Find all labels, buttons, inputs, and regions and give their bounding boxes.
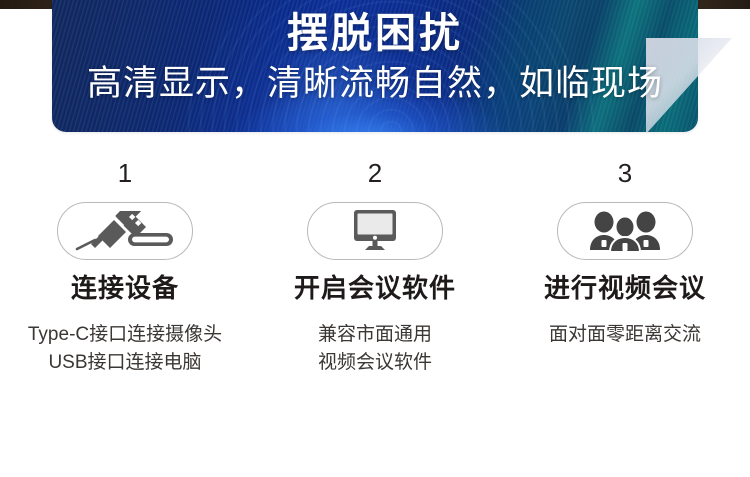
step-title-3: 进行视频会议 xyxy=(544,274,706,304)
step-number-3: 3 xyxy=(618,160,632,186)
step-number-2: 2 xyxy=(368,160,382,186)
step-title-1: 连接设备 xyxy=(71,274,179,304)
steps-row: 1 连接设备 Type-C接口连接摄像头 xyxy=(0,160,750,378)
hero-subtitle: 高清显示，清晰流畅自然，如临现场 xyxy=(87,63,663,105)
step-item-3: 3 进行视频会议 面对 xyxy=(500,160,750,378)
step-title-2: 开启会议软件 xyxy=(294,274,456,304)
step-desc-2-line1: 兼容市面通用 xyxy=(318,321,432,350)
step-desc-1-line1: Type-C接口连接摄像头 xyxy=(28,321,222,350)
monitor-icon xyxy=(307,202,443,260)
step-desc-3-line1: 面对面零距离交流 xyxy=(549,321,701,350)
step-desc-1-line2: USB接口连接电脑 xyxy=(28,349,222,378)
step-item-1: 1 连接设备 Type-C接口连接摄像头 xyxy=(0,160,250,378)
step-desc-2: 兼容市面通用 视频会议软件 xyxy=(318,321,432,378)
usb-cable-icon xyxy=(57,202,193,260)
hero-banner: 摆脱困扰 高清显示，清晰流畅自然，如临现场 xyxy=(52,0,698,132)
people-group-icon xyxy=(557,202,693,260)
step-desc-1: Type-C接口连接摄像头 USB接口连接电脑 xyxy=(28,321,222,378)
step-number-1: 1 xyxy=(118,160,132,186)
step-desc-3: 面对面零距离交流 xyxy=(549,321,701,350)
hero-text-block: 摆脱困扰 高清显示，清晰流畅自然，如临现场 xyxy=(52,0,698,132)
step-item-2: 2 开启会议软件 兼容市面通用 视频会议软件 xyxy=(250,160,500,378)
hero-title: 摆脱困扰 xyxy=(287,9,463,57)
step-desc-2-line2: 视频会议软件 xyxy=(318,349,432,378)
